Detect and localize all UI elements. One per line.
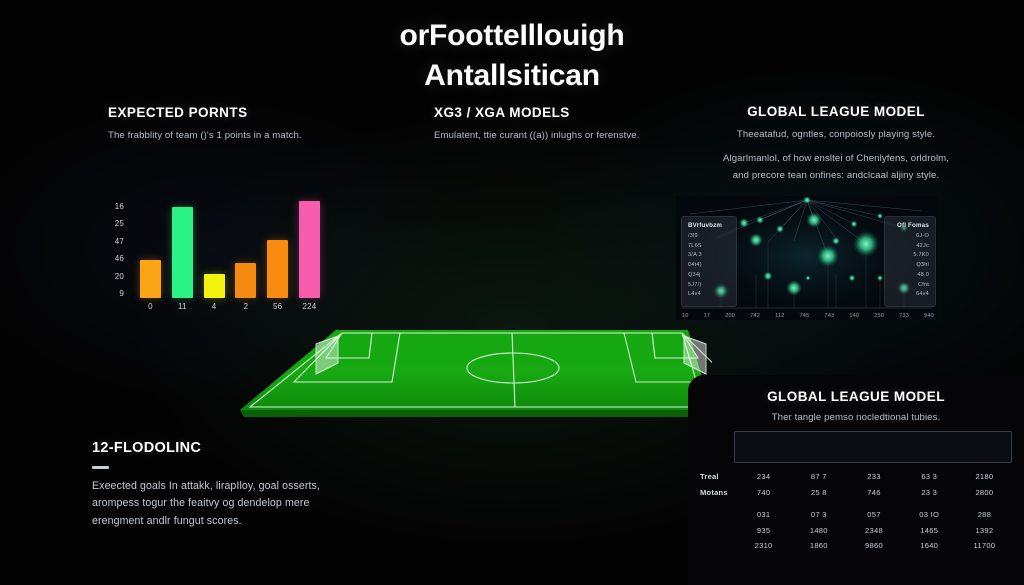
- network-panel-left-row: 3/A 3: [688, 251, 730, 261]
- network-x-tick: 745: [800, 313, 810, 319]
- network-panel-left-row: Q34j: [688, 271, 730, 281]
- bar-chart-x-tick: 56: [267, 302, 288, 311]
- section-subtitle-line-2: Algarlmanlol, of how ensltei of Chenlyfe…: [692, 151, 980, 167]
- network-x-tick: 10: [682, 313, 689, 319]
- table-cell: 2180: [957, 472, 1012, 481]
- bottom-left-line: Exeected goals In attakk, lirapIloy, goa…: [92, 478, 392, 496]
- network-x-tick: 112: [775, 313, 785, 319]
- network-x-tick: 140: [849, 313, 859, 319]
- global-league-network-diagram: BVrfuvbzm /3l97L6S3/A 304t4)Q34j5J7/)L4v…: [676, 196, 938, 320]
- network-panel-right-row: 42Jc: [891, 242, 929, 252]
- bottom-right-title: GLOBAL LEAGUE MODEL: [688, 389, 1024, 404]
- bar-chart-x-tick: 4: [204, 302, 225, 311]
- section-title-expected-points: EXPECTED PORNTS: [108, 105, 302, 120]
- table-cell: 746: [846, 488, 901, 497]
- table-cell: 03 IO: [902, 510, 957, 519]
- section-subtitle-expected-points: The frabblity of team ()'s 1 points in a…: [108, 128, 302, 144]
- table-cell: 2348: [846, 526, 901, 535]
- network-panel-left-row: 04t4): [688, 261, 730, 271]
- table-cell: 1640: [902, 541, 957, 550]
- network-x-tick: 17: [704, 313, 711, 319]
- bar-chart-y-tick: 25: [115, 219, 124, 228]
- network-x-axis: 1017200742112745743140250733940: [682, 313, 934, 319]
- section-subtitle-line-1: Theeatafud, ogntles, conpoiosly playing …: [692, 127, 980, 143]
- bottom-right-panel: GLOBAL LEAGUE MODEL Ther tangle pemso no…: [688, 375, 1024, 585]
- table-cell: 23 3: [902, 488, 957, 497]
- table-header-box: [734, 431, 1012, 463]
- network-panel-right-row: 64v4: [891, 290, 929, 300]
- network-x-tick: 742: [750, 313, 760, 319]
- table-cell: 935: [736, 526, 791, 535]
- table-cell: 9860: [846, 541, 901, 550]
- page-title: orFootteIllouigh Antallsitican: [0, 16, 1024, 95]
- network-panel-right-row: 48.0: [891, 271, 929, 281]
- bar-chart-bar[interactable]: [140, 260, 161, 298]
- bar-chart-y-tick: 16: [115, 202, 124, 211]
- table-cell: 1392: [957, 526, 1012, 535]
- table-row[interactable]: 231018609860164011700: [736, 538, 1012, 554]
- table-cell: 288: [957, 510, 1012, 519]
- bar-chart-y-tick: 20: [115, 272, 124, 281]
- network-x-tick: 733: [899, 313, 909, 319]
- pitch-svg: [232, 322, 712, 424]
- table-row[interactable]: 74025 874623 32800: [736, 485, 1012, 501]
- bottom-left-description: 12-FLODOLINC Exeected goals In attakk, l…: [92, 440, 392, 531]
- network-panel-left-row: /3l9: [688, 232, 730, 242]
- table-cell: 2800: [957, 488, 1012, 497]
- network-panel-right: Ofl Fomas 6J-O42Jc5.7K0Q3hl48.0Cfnt64v4: [884, 216, 936, 307]
- network-panel-right-row: 6J-O: [891, 232, 929, 242]
- table-cell: 1860: [791, 541, 846, 550]
- table-row-labels: TrealMotans: [700, 469, 734, 500]
- network-panel-right-row: Cfnt: [891, 281, 929, 291]
- network-panel-left: BVrfuvbzm /3l97L6S3/A 304t4)Q34j5J7/)L4v…: [681, 216, 737, 307]
- bar-chart-bar[interactable]: [204, 274, 225, 298]
- section-title-global-league-model: GLOBAL LEAGUE MODEL: [692, 104, 980, 119]
- bottom-right-subtitle: Ther tangle pemso nocledtional tubies.: [688, 412, 1024, 423]
- network-panel-right-row: Q3hl: [891, 261, 929, 271]
- bar-chart-y-tick: 47: [115, 237, 124, 246]
- table-cell: 63 3: [902, 472, 957, 481]
- bar-chart-x-tick: 224: [299, 302, 320, 311]
- table-cell: 740: [736, 488, 791, 497]
- bar-chart-x-axis: 0114256224: [140, 302, 320, 311]
- network-x-tick: 940: [924, 313, 934, 319]
- table-cell: 057: [846, 510, 901, 519]
- table-cell: 233: [846, 472, 901, 481]
- table-cell: 234: [736, 472, 791, 481]
- football-pitch: [232, 322, 712, 424]
- bar-chart-x-tick: 0: [140, 302, 161, 311]
- section-subtitle-line-3: and precore tean onfines: andclcaal alji…: [692, 168, 980, 184]
- bottom-left-title: 12-FLODOLINC: [92, 440, 392, 456]
- poster-canvas: orFootteIllouigh Antallsitican EXPECTED …: [0, 0, 1024, 585]
- network-x-tick: 200: [725, 313, 735, 319]
- table-row[interactable]: 23487 723363 32180: [736, 469, 1012, 485]
- bottom-left-line: erengment andlr fungut scores.: [92, 513, 392, 531]
- section-xg-models: XG3 / XGA MODELS Emulatent, ttie curant …: [434, 105, 640, 144]
- section-expected-points: EXPECTED PORNTS The frabblity of team ()…: [108, 105, 302, 144]
- network-panel-left-row: 7L6S: [688, 242, 730, 252]
- league-data-table: TrealMotans 23487 723363 3218074025 8746…: [700, 431, 1012, 556]
- network-panel-left-title: BVrfuvbzm: [688, 222, 730, 229]
- network-x-tick: 250: [874, 313, 884, 319]
- table-cell: 07 3: [791, 510, 846, 519]
- table-body: 23487 723363 3218074025 874623 328000310…: [736, 469, 1012, 554]
- table-cell: 1480: [791, 526, 846, 535]
- bottom-left-line: arompess togur the feaitvy og dendelop m…: [92, 495, 392, 513]
- table-cell: 2310: [736, 541, 791, 550]
- network-panel-left-row: 5J7/): [688, 281, 730, 291]
- title-line-2: Antallsitican: [0, 56, 1024, 96]
- table-row[interactable]: 03107 305703 IO288: [736, 507, 1012, 523]
- bar-chart-bar[interactable]: [235, 263, 256, 298]
- network-x-tick: 743: [824, 313, 834, 319]
- table-cell: 1465: [902, 526, 957, 535]
- network-panel-right-title: Ofl Fomas: [891, 222, 929, 229]
- bar-chart-bar[interactable]: [299, 201, 320, 298]
- bar-chart-bar[interactable]: [172, 207, 193, 298]
- table-cell: 25 8: [791, 488, 846, 497]
- table-row[interactable]: 9351480234814651392: [736, 523, 1012, 539]
- divider-rule: [92, 466, 109, 469]
- bar-chart-plot-area: [140, 198, 320, 298]
- bar-chart-bar[interactable]: [267, 240, 288, 298]
- table-cell: 031: [736, 510, 791, 519]
- table-cell: 11700: [957, 541, 1012, 550]
- network-panel-left-row: L4v4: [688, 290, 730, 300]
- section-global-league-model: GLOBAL LEAGUE MODEL Theeatafud, ogntles,…: [692, 104, 980, 184]
- table-cell: 87 7: [791, 472, 846, 481]
- expected-points-bar-chart: 16254746209 0114256224: [98, 198, 323, 316]
- network-panel-right-row: 5.7K0: [891, 251, 929, 261]
- bar-chart-y-tick: 46: [115, 254, 124, 263]
- bar-chart-y-axis: 16254746209: [98, 202, 124, 298]
- table-row-label: Treal: [700, 469, 734, 485]
- pitch-surface: [240, 330, 712, 410]
- section-subtitle-xg-models: Emulatent, ttie curant ((a)) inlughs or …: [434, 128, 640, 144]
- bar-chart-y-tick: 9: [119, 289, 124, 298]
- section-title-xg-models: XG3 / XGA MODELS: [434, 105, 640, 120]
- table-row-label: Motans: [700, 485, 734, 501]
- bar-chart-x-tick: 11: [172, 302, 193, 311]
- bar-chart-x-tick: 2: [235, 302, 256, 311]
- title-line-1: orFootteIllouigh: [0, 16, 1024, 56]
